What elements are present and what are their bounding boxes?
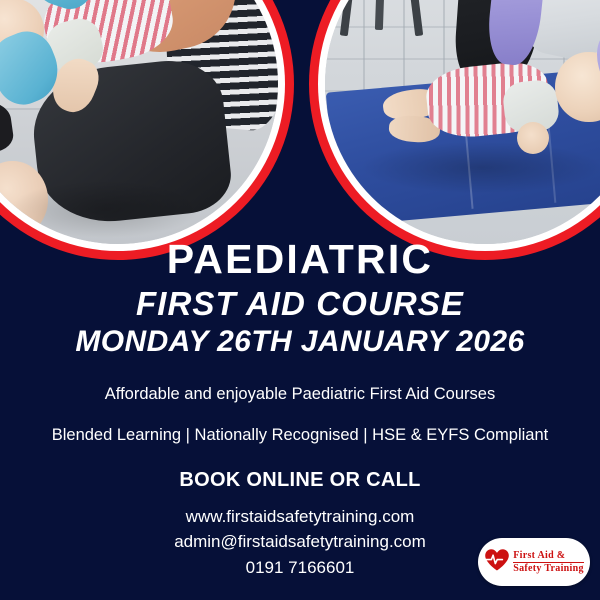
heart-ecg-icon xyxy=(484,548,510,577)
call-to-action-text: BOOK ONLINE OR CALL xyxy=(0,468,600,492)
headline-subtitle: FIRST AID COURSE xyxy=(0,286,600,323)
photo-circle-left xyxy=(0,0,294,260)
headline-course-date: MONDAY 26TH JANUARY 2026 xyxy=(0,325,600,359)
credentials-text: Blended Learning | Nationally Recognised… xyxy=(0,426,600,446)
photo-ring-white-gap-left xyxy=(0,0,285,251)
poster-content: PAEDIATRIC FIRST AID COURSE MONDAY 26TH … xyxy=(0,238,600,581)
tagline-text: Affordable and enjoyable Paediatric Firs… xyxy=(0,385,600,405)
photo-ring-white-gap-right xyxy=(318,0,600,251)
logo-text-line-2: Safety Training xyxy=(513,563,584,574)
promotional-poster: PAEDIATRIC FIRST AID COURSE MONDAY 26TH … xyxy=(0,0,600,600)
logo-text-line-1: First Aid & xyxy=(513,551,584,563)
photo-circle-right xyxy=(309,0,600,260)
photo-infant-cpr-on-blue-mat xyxy=(325,0,600,244)
headline-main: PAEDIATRIC xyxy=(0,238,600,281)
photo-paediatric-first-aid-infant-back-blows xyxy=(0,0,278,244)
company-logo-badge: First Aid & Safety Training xyxy=(478,538,590,586)
contact-website[interactable]: www.firstaidsafetytraining.com xyxy=(0,504,600,530)
